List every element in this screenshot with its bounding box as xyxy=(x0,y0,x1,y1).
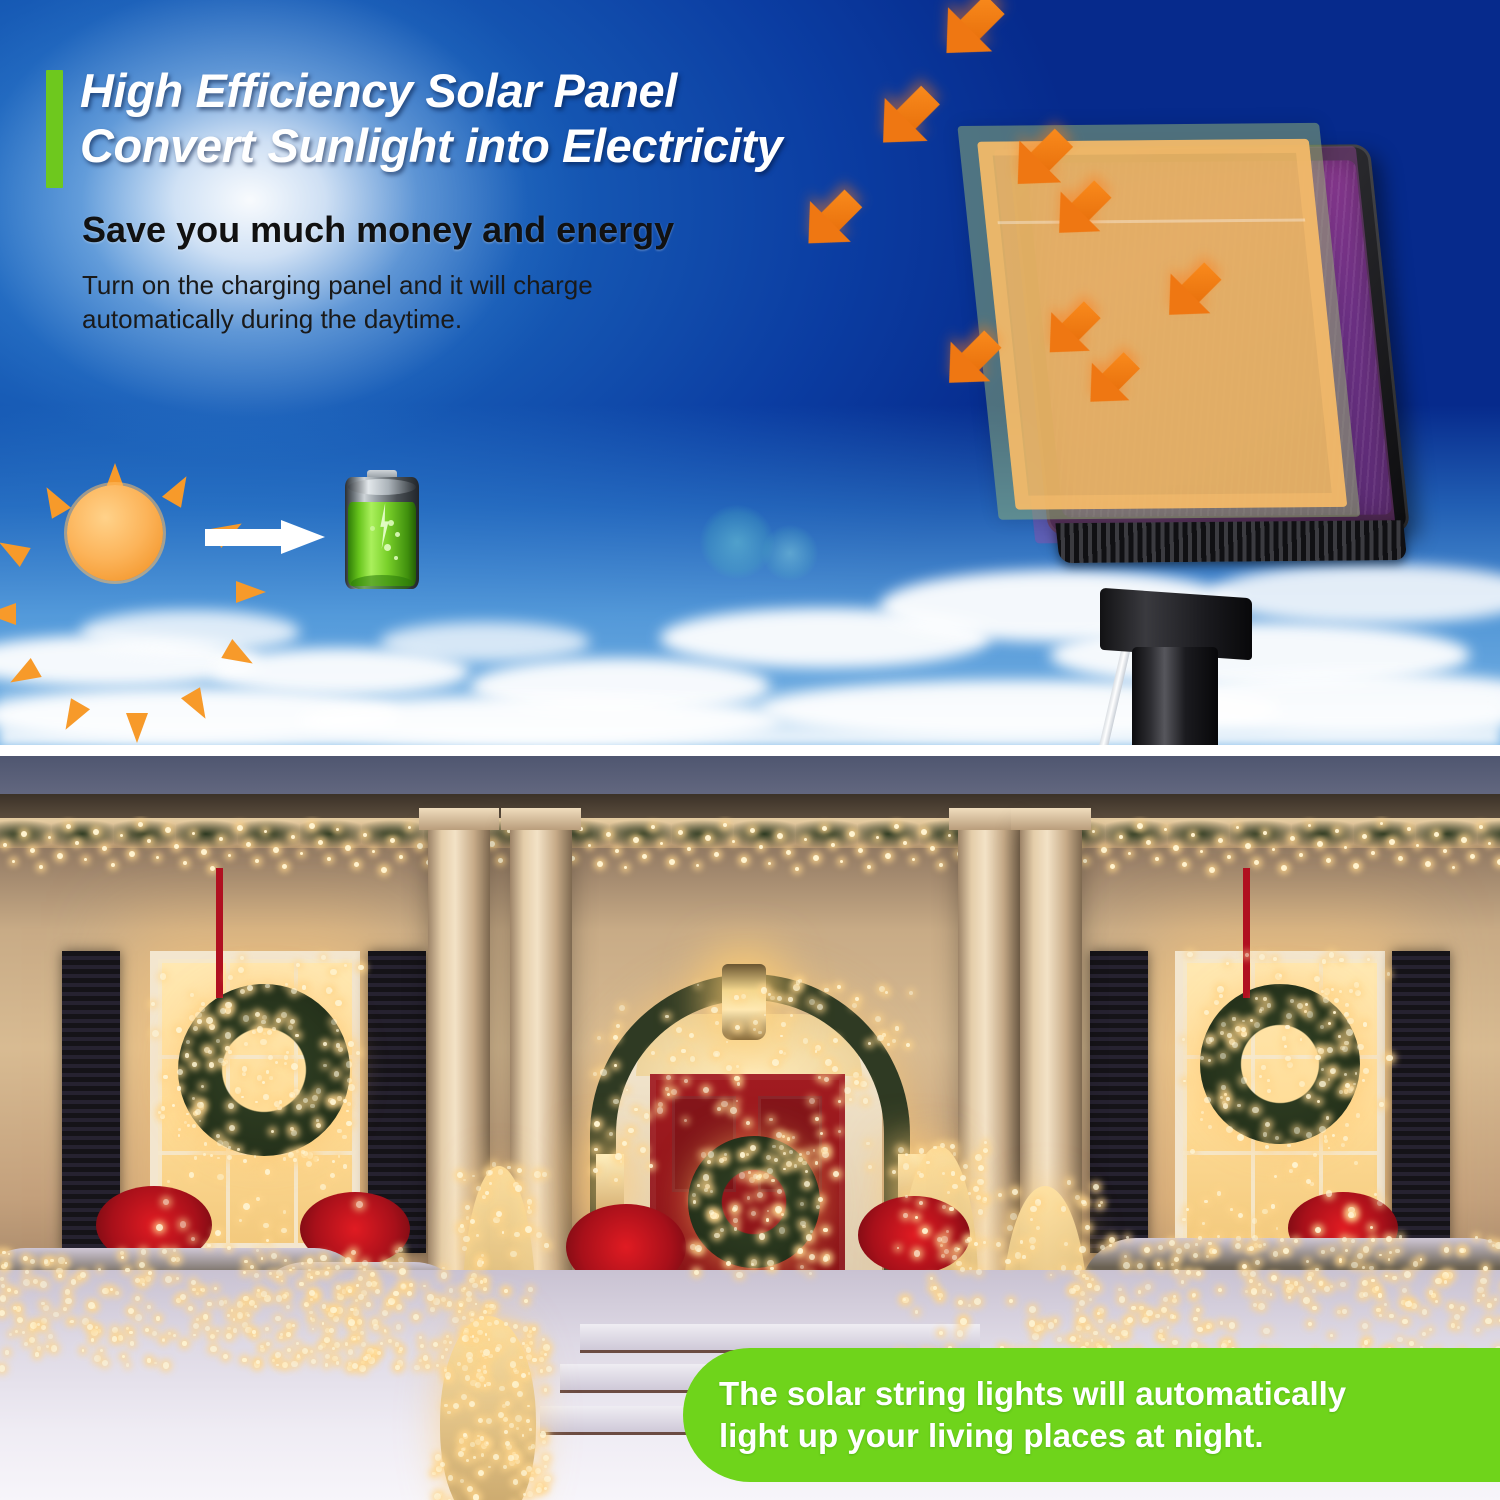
night-feature-banner: The solar string lights will automatical… xyxy=(683,1348,1500,1482)
banner-line-2: light up your living places at night. xyxy=(719,1415,1346,1457)
porch-step-1 xyxy=(580,1324,980,1350)
solar-panel-vent xyxy=(1055,520,1407,563)
body-text-line-2: automatically during the daytime. xyxy=(82,302,762,336)
sun-icon xyxy=(45,463,185,603)
panel-divider xyxy=(0,745,1500,756)
right-arrow-icon xyxy=(205,520,325,554)
shutter-right-outer xyxy=(1090,951,1148,1253)
shutter-right-inner xyxy=(1392,951,1450,1253)
product-feature-image: High Efficiency Solar Panel Convert Sunl… xyxy=(0,0,1500,1500)
body-text-line-1: Turn on the charging panel and it will c… xyxy=(82,268,762,302)
wreath-right xyxy=(1200,984,1360,1144)
banner-text: The solar string lights will automatical… xyxy=(683,1373,1360,1456)
wreath-ribbon-left xyxy=(216,868,223,998)
headline-accent-bar xyxy=(46,70,63,188)
battery-charged-icon xyxy=(345,470,419,592)
solar-panel-feature-panel: High Efficiency Solar Panel Convert Sunl… xyxy=(0,0,1500,745)
wreath-ribbon-right xyxy=(1243,868,1250,998)
body-text: Turn on the charging panel and it will c… xyxy=(82,268,762,337)
banner-line-1: The solar string lights will automatical… xyxy=(719,1373,1346,1415)
porch-lantern-icon xyxy=(722,964,766,1040)
solar-panel-stake xyxy=(1132,647,1218,745)
icicle-string-lights xyxy=(0,816,1500,920)
